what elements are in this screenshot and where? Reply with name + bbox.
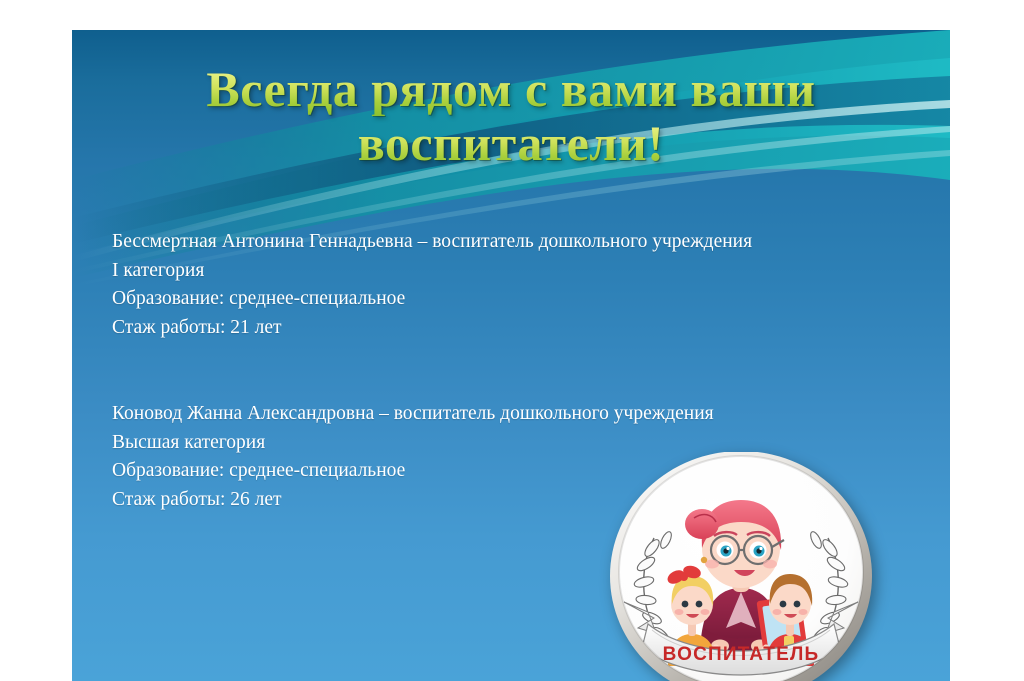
teacher-1-name-and-role: Бессмертная Антонина Геннадьевна – воспи… — [112, 228, 912, 257]
slide-title: Всегда рядом с вами ваши воспитатели! — [72, 62, 950, 170]
teacher-entry-2: Коновод Жанна Александровна – воспитател… — [112, 400, 912, 514]
teacher-1-education: Образование: среднее-специальное — [112, 285, 912, 314]
teacher-2-category: Высшая категория — [112, 429, 912, 458]
teacher-1-experience: Стаж работы: 21 лет — [112, 314, 912, 343]
slide-title-line-1: Всегда рядом с вами ваши — [72, 62, 950, 116]
slide-canvas: Всегда рядом с вами ваши воспитатели! Бе… — [72, 30, 950, 681]
teacher-2-education: Образование: среднее-специальное — [112, 457, 912, 486]
teacher-entry-1: Бессмертная Антонина Геннадьевна – воспи… — [112, 228, 912, 342]
teacher-2-name-and-role: Коновод Жанна Александровна – воспитател… — [112, 400, 912, 429]
teacher-2-experience: Стаж работы: 26 лет — [112, 486, 912, 515]
emblem-caption-text: ВОСПИТАТЕЛЬ — [663, 644, 820, 665]
teacher-1-category: I категория — [112, 257, 912, 286]
slide-title-line-2: воспитатели! — [72, 116, 950, 170]
